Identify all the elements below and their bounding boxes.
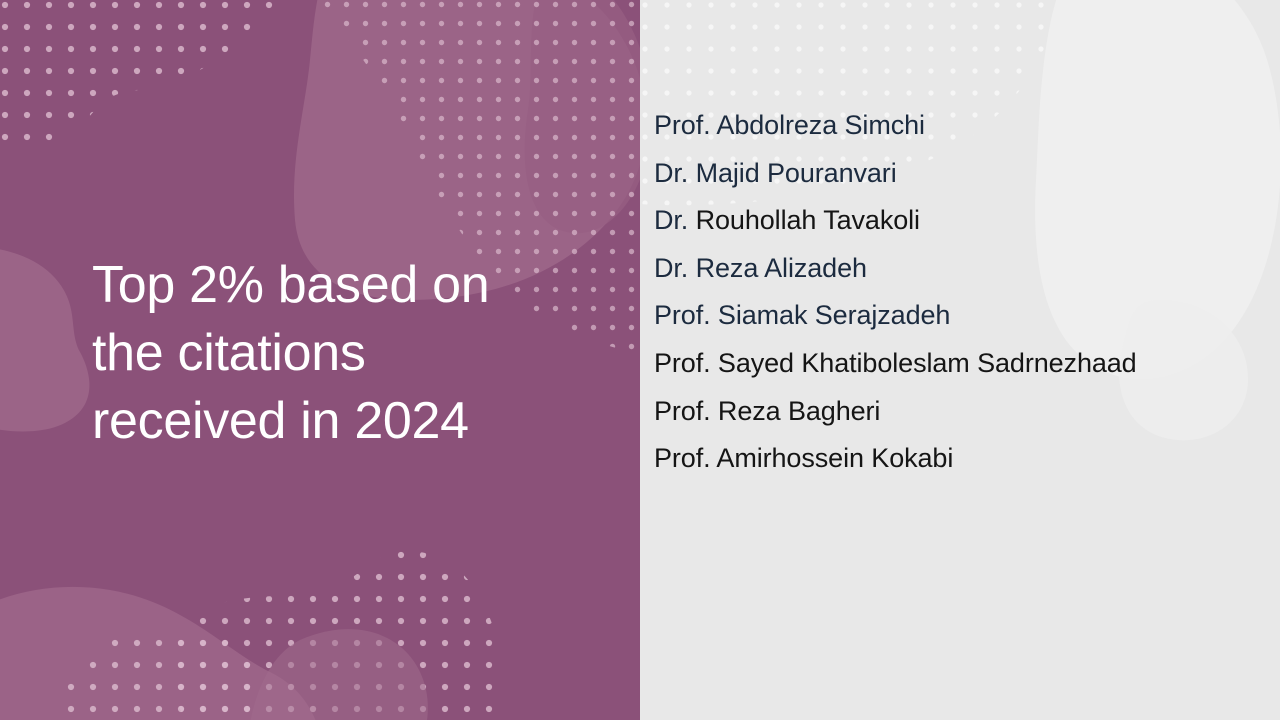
- name-text: Prof. Abdolreza Simchi: [654, 110, 925, 140]
- page-title: Top 2% based on the citations received i…: [92, 251, 562, 455]
- list-item: Prof. Amirhossein Kokabi: [654, 435, 1274, 483]
- list-item: Prof. Reza Bagheri: [654, 388, 1274, 436]
- title-panel: Top 2% based on the citations received i…: [0, 0, 640, 720]
- title-line-2: the citations: [92, 319, 562, 387]
- name-text: Dr. Reza Alizadeh: [654, 253, 867, 283]
- list-item: Dr. Reza Alizadeh: [654, 245, 1274, 293]
- name-text: Prof. Amirhossein Kokabi: [654, 443, 953, 473]
- name-text: Dr. Majid Pouranvari: [654, 158, 897, 188]
- list-item: Dr. Rouhollah Tavakoli: [654, 197, 1274, 245]
- list-item: Prof. Abdolreza Simchi: [654, 102, 1274, 150]
- list-item: Prof. Siamak Serajzadeh: [654, 292, 1274, 340]
- title-line-3: received in 2024: [92, 387, 562, 455]
- name-text: Prof. Siamak Serajzadeh: [654, 300, 950, 330]
- list-item: Dr. Majid Pouranvari: [654, 150, 1274, 198]
- name-text: Rouhollah Tavakoli: [696, 205, 920, 235]
- name-prefix: Dr.: [654, 205, 688, 235]
- title-line-1: Top 2% based on: [92, 251, 562, 319]
- names-panel: Prof. Abdolreza Simchi Dr. Majid Pouranv…: [640, 0, 1280, 720]
- name-rest: [688, 205, 695, 235]
- name-text: Prof. Reza Bagheri: [654, 396, 880, 426]
- names-list: Prof. Abdolreza Simchi Dr. Majid Pouranv…: [654, 102, 1274, 483]
- slide-canvas: Top 2% based on the citations received i…: [0, 0, 1280, 720]
- name-text: Prof. Sayed Khatiboleslam Sadrnezhaad: [654, 348, 1137, 378]
- list-item: Prof. Sayed Khatiboleslam Sadrnezhaad: [654, 340, 1274, 388]
